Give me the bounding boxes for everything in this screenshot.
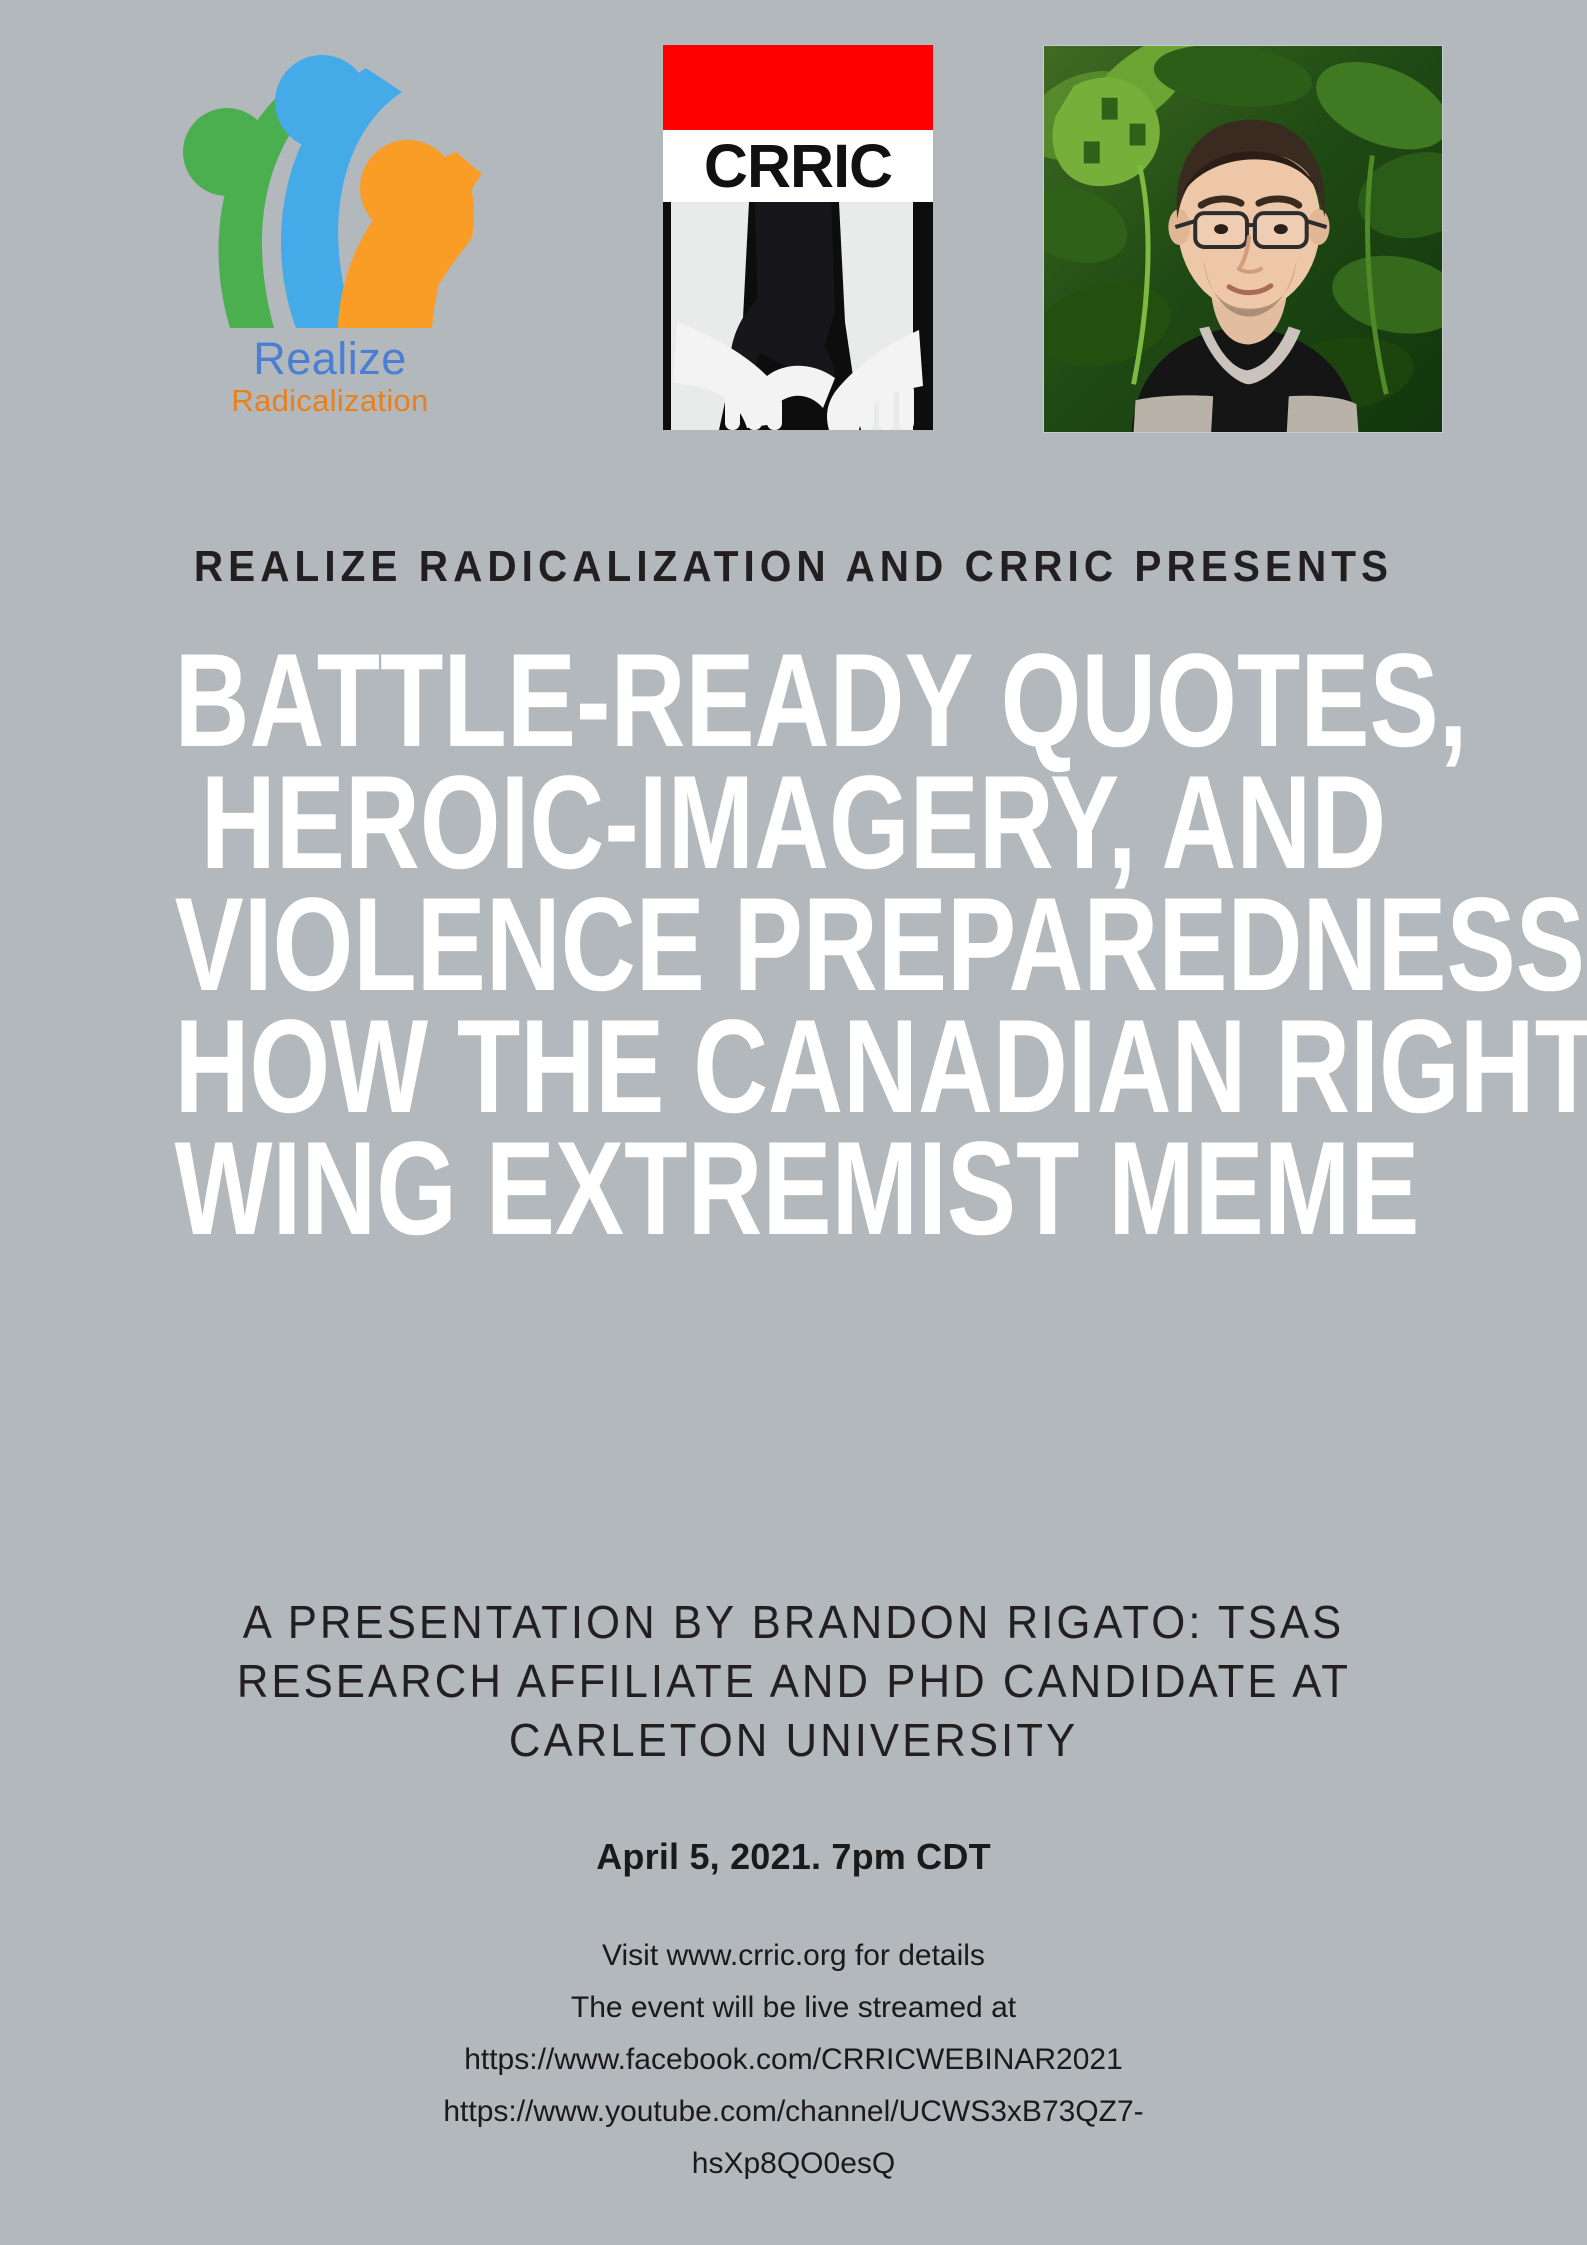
- helping-hands-icon: [663, 202, 933, 430]
- details-stream-line: The event will be live streamed at: [0, 1982, 1587, 2034]
- presents-line: REALIZE RADICALIZATION AND CRRIC PRESENT…: [63, 542, 1523, 592]
- realize-word: Realize: [150, 335, 510, 382]
- youtube-stream-url-part1[interactable]: https://www.youtube.com/channel/UCWS3xB7…: [0, 2086, 1587, 2138]
- event-datetime: April 5, 2021. 7pm CDT: [0, 1836, 1587, 1878]
- presenter-line-3: CARLETON UNIVERSITY: [509, 1714, 1078, 1766]
- realize-radicalization-logo: Realize Radicalization: [150, 40, 510, 430]
- presenter-line-2: RESEARCH AFFILIATE AND PHD CANDIDATE AT: [237, 1655, 1350, 1707]
- radicalization-word: Radicalization: [150, 382, 510, 421]
- title-line-3: VIOLENCE PREPAREDNESS:: [175, 884, 1413, 1006]
- youtube-stream-url-part2[interactable]: hsXp8QO0esQ: [0, 2138, 1587, 2190]
- crric-logo: CRRIC: [663, 45, 933, 430]
- poster-title: BATTLE-READY QUOTES, HEROIC-IMAGERY, AND…: [0, 640, 1587, 1250]
- speaker-portrait-photo: [1043, 45, 1443, 433]
- details-website-line: Visit www.crric.org for details: [0, 1930, 1587, 1982]
- event-details: Visit www.crric.org for details The even…: [0, 1930, 1587, 2190]
- title-line-5: WING EXTREMIST MEME: [175, 1128, 1413, 1250]
- presenter-line-1: A PRESENTATION BY BRANDON RIGATO: TSAS: [243, 1596, 1344, 1648]
- crric-red-bar: [663, 45, 933, 130]
- facebook-stream-url[interactable]: https://www.facebook.com/CRRICWEBINAR202…: [0, 2034, 1587, 2086]
- header-logo-strip: Realize Radicalization CRRIC: [0, 0, 1587, 480]
- title-line-4: HOW THE CANADIAN RIGHT-: [175, 1006, 1413, 1128]
- presenter-credit: A PRESENTATION BY BRANDON RIGATO: TSAS R…: [116, 1593, 1472, 1770]
- crric-wordmark: CRRIC: [663, 130, 933, 202]
- three-people-icon: [170, 40, 490, 330]
- realize-radicalization-wordmark: Realize Radicalization: [150, 335, 510, 421]
- title-line-2: HEROIC-IMAGERY, AND: [175, 762, 1413, 884]
- title-line-1: BATTLE-READY QUOTES,: [175, 640, 1413, 762]
